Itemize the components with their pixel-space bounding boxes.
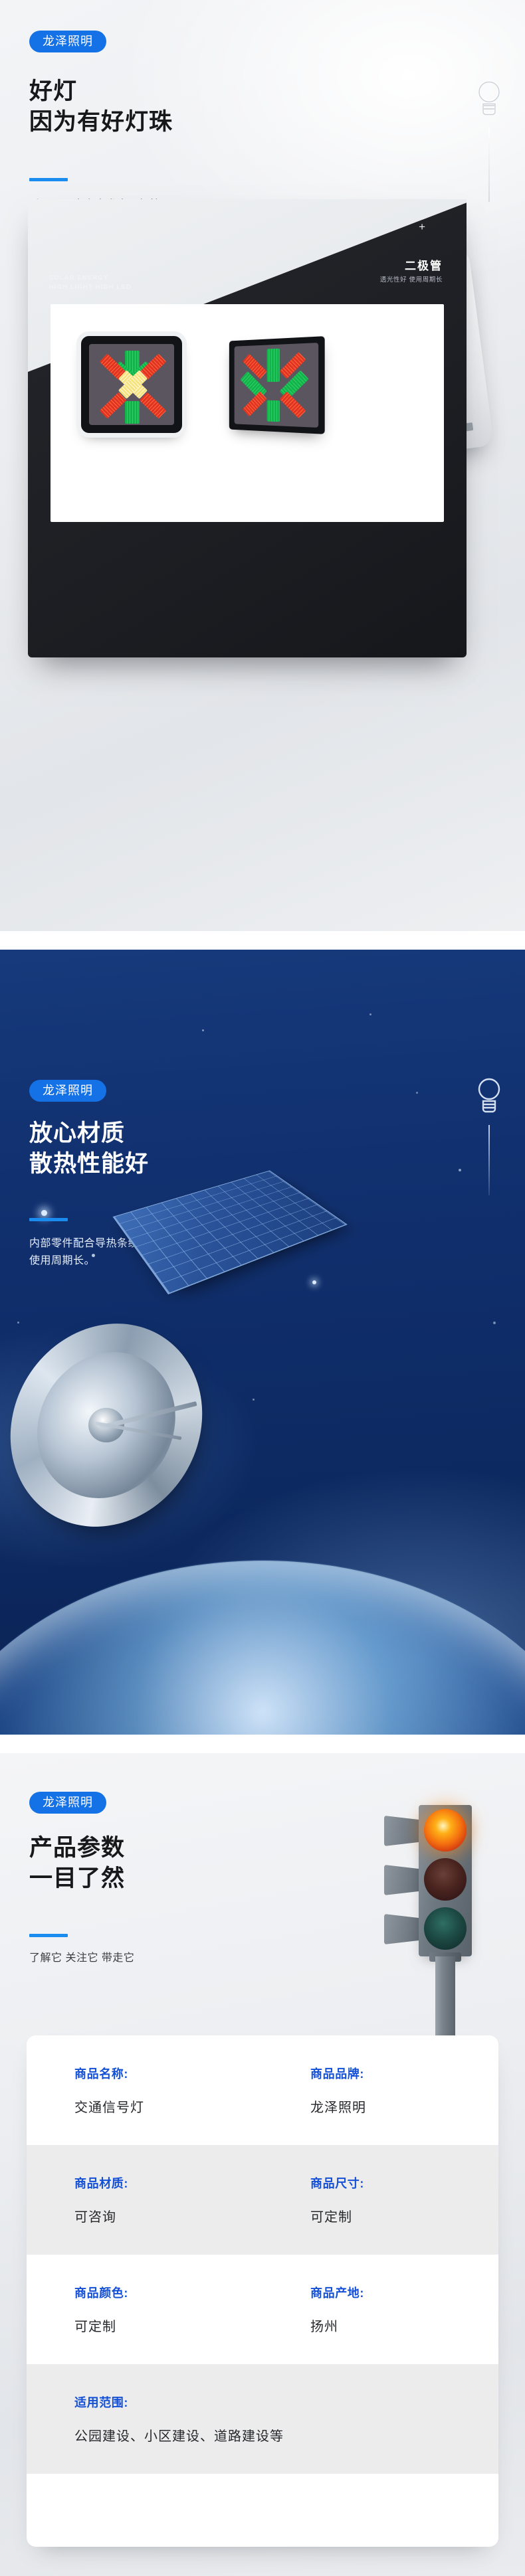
card-chinese-title: 二极管 (405, 256, 443, 273)
section3-headline-line2: 一目了然 (29, 1863, 125, 1894)
lightbulb-icon (475, 76, 503, 118)
product-detail-page: 龙泽照明 好灯 因为有好灯珠 采用四元素亮光发光二极管， 使用周期长, 低能耗 (0, 0, 525, 2576)
section-heat-dissipation: 龙泽照明 放心材质 散热性能好 内部零件配合导热条纹散热更快, 使用周期长。 (0, 950, 525, 1753)
spec-value: 龙泽照明 (310, 2097, 498, 2116)
spec-key: 商品品牌: (310, 2065, 498, 2082)
card-english-line2: HIGH LIGHT HIGH LED (49, 283, 132, 292)
brand-pill-label: 龙泽照明 (29, 31, 106, 52)
traffic-light-lamp-yellow (424, 1858, 467, 1901)
section3-headline: 产品参数 一目了然 (29, 1833, 125, 1894)
section3-subcopy-line1: 了解它 关注它 带走它 (29, 1950, 134, 1967)
plus-icon: + (419, 221, 425, 232)
spec-cell-applicable-scope: 适用范围: 公园建设、小区建设、道路建设等 (27, 2364, 498, 2474)
led-arrow-display-front (80, 335, 183, 434)
traffic-light-visor-yellow (384, 1865, 421, 1895)
section-divider-2 (0, 1735, 525, 1753)
spec-value: 扬州 (310, 2316, 498, 2335)
traffic-light-lamp-red (424, 1809, 467, 1851)
satellite-dish (7, 1328, 206, 1522)
traffic-light-lamp-green (424, 1907, 467, 1950)
spec-key: 商品名称: (74, 2065, 262, 2082)
spec-cell-product-material: 商品材质: 可咨询 (27, 2145, 262, 2255)
section2-headline-line2: 散热性能好 (29, 1149, 149, 1179)
card-chinese-subtitle: 透光性好 使用周期长 (380, 274, 443, 284)
spec-cell-product-brand: 商品品牌: 龙泽照明 (262, 2035, 498, 2145)
spec-key: 商品材质: (74, 2174, 262, 2191)
section2-accent-rule (29, 1218, 68, 1221)
card-english-line1: SOLAR ENERGY (49, 274, 132, 283)
led-arrow-screen-angled (235, 343, 318, 428)
spec-table-card: 商品名称: 交通信号灯 商品品牌: 龙泽照明 商品材质: 可咨询 商品尺寸: 可… (27, 2035, 498, 2547)
spec-key: 适用范围: (74, 2393, 498, 2411)
section1-headline-line1: 好灯 (29, 76, 173, 107)
section1-dark-card: + SOLAR ENERGY HIGH LIGHT HIGH LED 二极管 透… (28, 199, 467, 657)
brand-pill-section3: 龙泽照明 (29, 1792, 106, 1814)
brand-pill-label: 龙泽照明 (29, 1080, 106, 1102)
section-led-beads: 龙泽照明 好灯 因为有好灯珠 采用四元素亮光发光二极管， 使用周期长, 低能耗 (0, 0, 525, 950)
spec-value: 可定制 (74, 2316, 262, 2335)
spec-row: 商品颜色: 可定制 商品产地: 扬州 (27, 2255, 498, 2364)
section3-headline-line1: 产品参数 (29, 1833, 125, 1863)
section1-headline: 好灯 因为有好灯珠 (29, 76, 173, 137)
section2-vertical-line (488, 1125, 490, 1195)
spec-value: 交通信号灯 (74, 2097, 262, 2116)
led-arrow-screen-front (89, 344, 174, 425)
card-white-panel (51, 304, 444, 522)
brand-pill-label: 龙泽照明 (29, 1792, 106, 1814)
spec-row: 适用范围: 公园建设、小区建设、道路建设等 (27, 2364, 498, 2474)
section3-accent-rule (29, 1934, 68, 1937)
traffic-light-visor-green (384, 1914, 421, 1944)
section-product-parameters: 龙泽照明 产品参数 一目了然 了解它 关注它 带走它 (0, 1753, 525, 2576)
spec-value: 可咨询 (74, 2206, 262, 2225)
spec-key: 商品尺寸: (310, 2174, 498, 2191)
spec-cell-product-name: 商品名称: 交通信号灯 (27, 2035, 262, 2145)
traffic-light-icon (399, 1805, 485, 2044)
brand-pill-section2: 龙泽照明 (29, 1080, 106, 1102)
spec-row: 商品名称: 交通信号灯 商品品牌: 龙泽照明 (27, 2035, 498, 2145)
spec-value: 公园建设、小区建设、道路建设等 (74, 2425, 498, 2445)
section1-headline-line2: 因为有好灯珠 (29, 107, 173, 137)
led-arrow-display-angled (229, 336, 325, 434)
spec-cell-product-color: 商品颜色: 可定制 (27, 2255, 262, 2364)
lightbulb-icon (475, 1074, 503, 1116)
brand-pill-section1: 龙泽照明 (29, 31, 106, 52)
section-divider-1 (0, 931, 525, 950)
section1-accent-rule (29, 178, 68, 181)
spec-key: 商品颜色: (74, 2284, 262, 2301)
section3-subcopy: 了解它 关注它 带走它 (29, 1950, 134, 1967)
section1-vertical-line (488, 128, 490, 202)
card-english-caption: SOLAR ENERGY HIGH LIGHT HIGH LED (49, 274, 132, 293)
traffic-light-visor-red (384, 1816, 421, 1846)
section2-headline-line1: 放心材质 (29, 1118, 149, 1149)
section2-headline: 放心材质 散热性能好 (29, 1118, 149, 1179)
traffic-light-housing (419, 1805, 472, 1956)
spec-value: 可定制 (310, 2206, 498, 2225)
traffic-light-pole (435, 1956, 455, 2044)
spec-key: 商品产地: (310, 2284, 498, 2301)
spec-cell-product-size: 商品尺寸: 可定制 (262, 2145, 498, 2255)
spec-row: 商品材质: 可咨询 商品尺寸: 可定制 (27, 2145, 498, 2255)
spec-cell-product-origin: 商品产地: 扬州 (262, 2255, 498, 2364)
